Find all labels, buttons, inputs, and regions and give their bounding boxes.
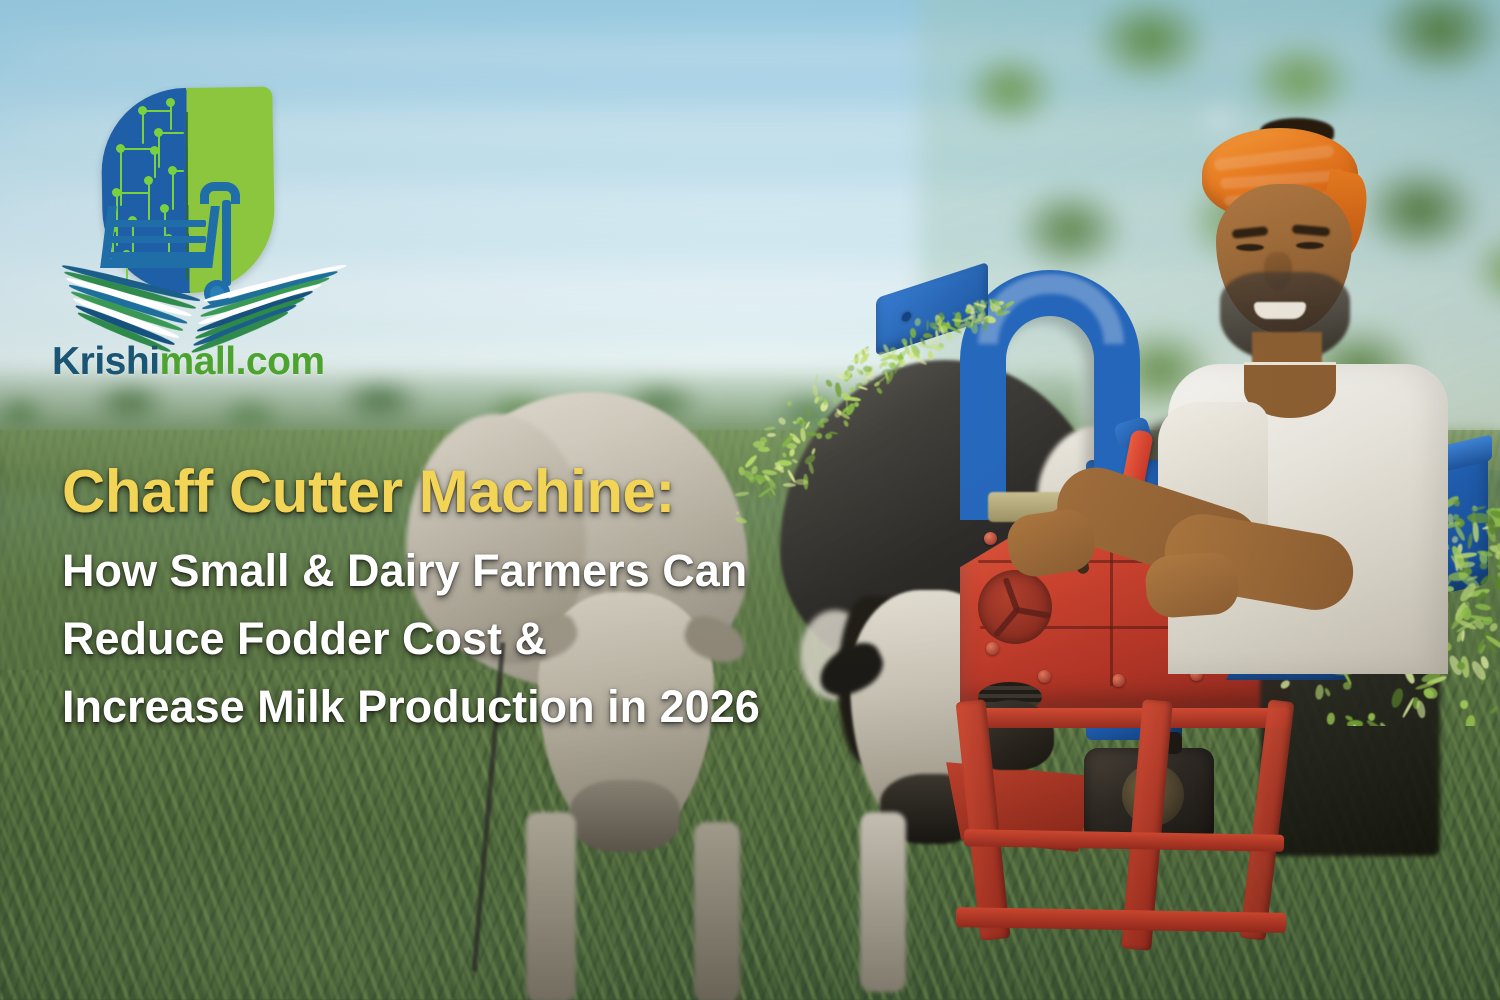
brand-logo[interactable]: Krishimall.com — [52, 88, 372, 388]
machine-bolt — [984, 532, 997, 545]
turban-fold — [1214, 145, 1335, 172]
fodder-leaf — [1279, 678, 1291, 689]
circuit-node — [168, 166, 177, 175]
circuit-node — [150, 146, 159, 155]
circuit-trace — [120, 148, 122, 206]
cart-rung — [110, 236, 206, 243]
eye-left — [1236, 244, 1264, 251]
cart-rung — [110, 220, 206, 227]
flywheel-spoke — [1003, 577, 1021, 613]
machine-bolt — [1112, 674, 1125, 687]
circuit-trace — [116, 192, 150, 194]
circuit-trace — [172, 170, 174, 210]
eye-right — [1296, 242, 1324, 249]
fodder-leaf — [1459, 700, 1469, 711]
stand-rail — [960, 708, 1290, 728]
farmer — [1140, 110, 1480, 670]
brand-secondary-text: mall.com — [160, 340, 325, 383]
circuit-node — [154, 128, 163, 137]
fodder-leaf — [1479, 562, 1487, 569]
cow-leg — [526, 812, 576, 1000]
subheadline-line-2: Reduce Fodder Cost & — [62, 616, 962, 661]
fodder-leaf — [1327, 712, 1335, 725]
circuit-trace — [142, 110, 144, 144]
cart-handle — [200, 182, 240, 204]
subheadline-line-3: Increase Milk Production in 2026 — [62, 684, 962, 729]
fodder-leaf — [1464, 714, 1475, 726]
fodder-leaf — [1379, 721, 1393, 726]
flywheel-cover — [978, 570, 1052, 644]
headline-block: Chaff Cutter Machine: How Small & Dairy … — [62, 462, 962, 752]
smiling-mouth — [1254, 302, 1306, 319]
hero-banner: Krishimall.com Chaff Cutter Machine: How… — [0, 0, 1500, 1000]
fodder-leaf — [1323, 687, 1331, 697]
hand-right — [1144, 551, 1240, 619]
machine-bolt — [1038, 670, 1051, 683]
fodder-leaf — [1479, 573, 1493, 586]
fodder-leaf — [1489, 705, 1499, 715]
circuit-node — [166, 98, 175, 107]
cart-rung — [110, 252, 206, 259]
machine-bolt — [986, 642, 999, 655]
brand-primary-text: Krishi — [52, 340, 160, 383]
cow-muzzle — [570, 780, 680, 852]
fodder-leaf — [1315, 684, 1324, 699]
page-title: Chaff Cutter Machine: — [62, 462, 962, 522]
circuit-node — [138, 106, 147, 115]
flywheel-spoke — [1015, 607, 1051, 619]
fodder-leaf — [1390, 687, 1405, 709]
cow-leg — [694, 822, 740, 1000]
circuit-node — [144, 176, 153, 185]
fodder-leaf — [1415, 699, 1427, 718]
circuit-node — [112, 188, 121, 197]
subheadline-line-1: How Small & Dairy Farmers Can — [62, 548, 962, 593]
circuit-node — [116, 144, 125, 153]
brand-wordmark: Krishimall.com — [52, 340, 372, 384]
